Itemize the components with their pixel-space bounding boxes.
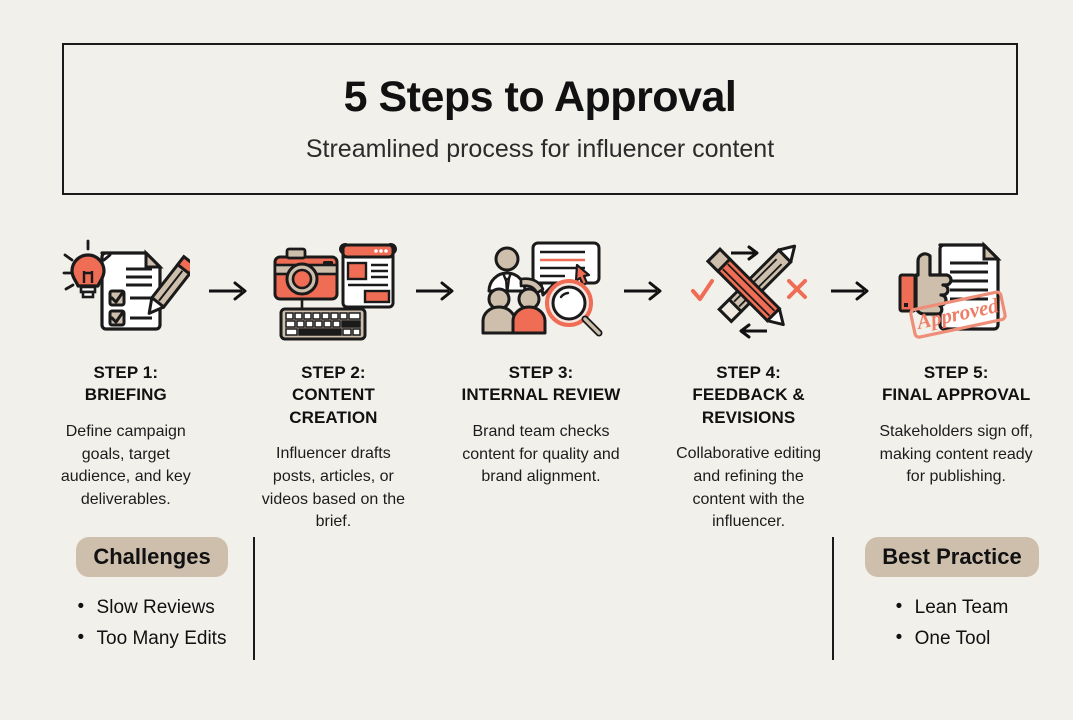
camera-browser-keyboard-icon xyxy=(263,236,403,346)
step-label-3: STEP 3: xyxy=(509,363,574,382)
thumbs-up-approved-stamp-icon: Approved xyxy=(886,236,1026,346)
list-item: Lean Team xyxy=(896,593,1009,624)
step-title-5: STEP 5: FINAL APPROVAL xyxy=(882,362,1030,407)
step-name-3: INTERNAL REVIEW xyxy=(462,385,621,404)
step-card-2: STEP 2: CONTENT CREATION Influencer draf… xyxy=(254,236,414,534)
briefing-checklist-lightbulb-icon xyxy=(56,236,196,346)
arrow-right-icon xyxy=(621,236,669,346)
step-name-4: FEEDBACK & REVISIONS xyxy=(692,385,804,426)
list-item: Slow Reviews xyxy=(78,593,227,624)
best-practice-badge: Best Practice xyxy=(865,537,1038,577)
step-title-3: STEP 3: INTERNAL REVIEW xyxy=(462,362,621,407)
step-label-5: STEP 5: xyxy=(924,363,989,382)
arrow-right-icon xyxy=(828,236,876,346)
step-label-1: STEP 1: xyxy=(93,363,158,382)
step-card-1: STEP 1: BRIEFING Define campaign goals, … xyxy=(46,236,206,512)
list-item: Too Many Edits xyxy=(78,624,227,655)
list-item: One Tool xyxy=(896,624,1009,655)
step-description-3: Brand team checks content for quality an… xyxy=(461,421,621,489)
step-title-1: STEP 1: BRIEFING xyxy=(85,362,167,407)
challenges-list: Slow Reviews Too Many Edits xyxy=(78,593,227,655)
team-review-magnifier-icon xyxy=(471,236,611,346)
arrow-right-icon xyxy=(206,236,254,346)
steps-row: STEP 1: BRIEFING Define campaign goals, … xyxy=(46,236,1036,534)
step-title-2: STEP 2: CONTENT CREATION xyxy=(254,362,414,429)
crossed-pencils-revision-icon xyxy=(679,236,819,346)
divider-left xyxy=(253,537,255,660)
step-card-4: STEP 4: FEEDBACK & REVISIONS Collaborati… xyxy=(669,236,829,534)
step-description-2: Influencer drafts posts, articles, or vi… xyxy=(254,443,414,534)
step-label-4: STEP 4: xyxy=(716,363,781,382)
challenges-panel: Challenges Slow Reviews Too Many Edits xyxy=(52,537,252,655)
step-description-4: Collaborative editing and refining the c… xyxy=(669,443,829,534)
step-card-3: STEP 3: INTERNAL REVIEW Brand team check… xyxy=(461,236,621,489)
step-label-2: STEP 2: xyxy=(301,363,366,382)
step-description-1: Define campaign goals, target audience, … xyxy=(46,421,206,512)
page-title: 5 Steps to Approval xyxy=(344,74,737,121)
page-subtitle: Streamlined process for influencer conte… xyxy=(306,134,774,164)
arrow-right-icon xyxy=(413,236,461,346)
step-name-1: BRIEFING xyxy=(85,385,167,404)
best-practice-panel: Best Practice Lean Team One Tool xyxy=(852,537,1052,655)
step-description-5: Stakeholders sign off, making content re… xyxy=(876,421,1036,489)
step-title-4: STEP 4: FEEDBACK & REVISIONS xyxy=(669,362,829,429)
title-card: 5 Steps to Approval Streamlined process … xyxy=(62,43,1018,195)
step-name-5: FINAL APPROVAL xyxy=(882,385,1030,404)
best-practice-list: Lean Team One Tool xyxy=(896,593,1009,655)
step-card-5: Approved STEP 5: FINAL APPROVAL Stakehol… xyxy=(876,236,1036,489)
divider-right xyxy=(832,537,834,660)
challenges-badge: Challenges xyxy=(76,537,227,577)
step-name-2: CONTENT CREATION xyxy=(289,385,377,426)
